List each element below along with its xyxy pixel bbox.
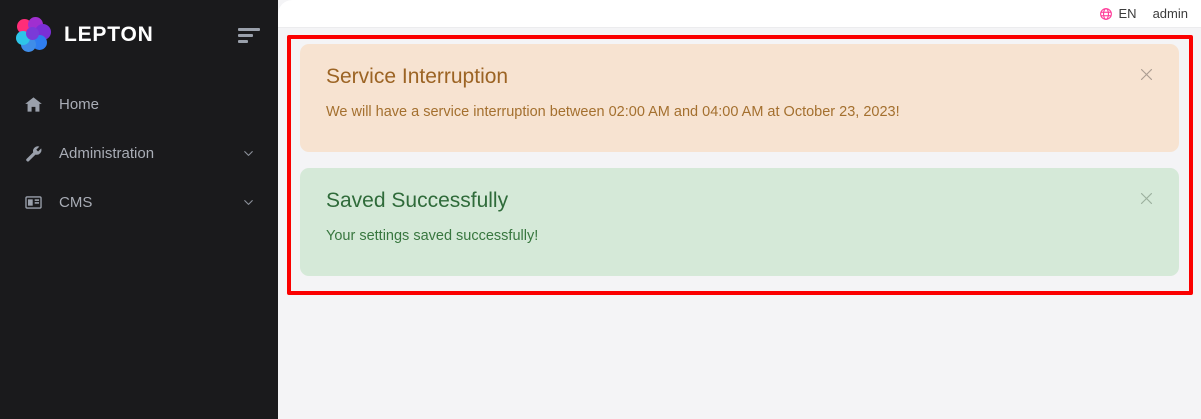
main-area: EN admin Service Interruption We will ha…: [278, 0, 1201, 419]
lepton-flower-logo: [16, 17, 52, 53]
sidebar: LEPTON Home Administr: [0, 0, 278, 419]
sidebar-item-administration[interactable]: Administration: [0, 129, 278, 178]
globe-icon[interactable]: [1099, 7, 1113, 21]
alert-saved-successfully: Saved Successfully Your settings saved s…: [300, 168, 1179, 276]
alerts-container: Service Interruption We will have a serv…: [278, 28, 1201, 276]
chevron-down-icon[interactable]: [241, 146, 256, 161]
sidebar-brand: LEPTON: [0, 0, 278, 70]
chevron-down-icon[interactable]: [241, 195, 256, 210]
language-code[interactable]: EN: [1119, 6, 1137, 21]
sidebar-item-label: Administration: [59, 145, 154, 162]
menu-fold-icon[interactable]: [238, 24, 260, 47]
newspaper-icon: [22, 192, 44, 214]
app-root: LEPTON Home Administr: [0, 0, 1201, 419]
sidebar-nav: Home Administration: [0, 80, 278, 227]
alert-title: Service Interruption: [326, 64, 1155, 89]
user-menu[interactable]: admin: [1153, 6, 1188, 21]
wrench-icon: [22, 143, 44, 165]
alert-service-interruption: Service Interruption We will have a serv…: [300, 44, 1179, 152]
alert-message: Your settings saved successfully!: [326, 227, 1155, 247]
alert-message: We will have a service interruption betw…: [326, 103, 1155, 123]
sidebar-item-cms[interactable]: CMS: [0, 178, 278, 227]
sidebar-item-label: Home: [59, 96, 99, 113]
close-icon[interactable]: [1135, 187, 1157, 209]
alert-title: Saved Successfully: [326, 188, 1155, 213]
close-icon[interactable]: [1135, 63, 1157, 85]
brand-name: LEPTON: [64, 23, 154, 47]
topbar: EN admin: [278, 0, 1201, 28]
home-icon: [22, 94, 44, 116]
sidebar-item-home[interactable]: Home: [0, 80, 278, 129]
sidebar-item-label: CMS: [59, 194, 92, 211]
